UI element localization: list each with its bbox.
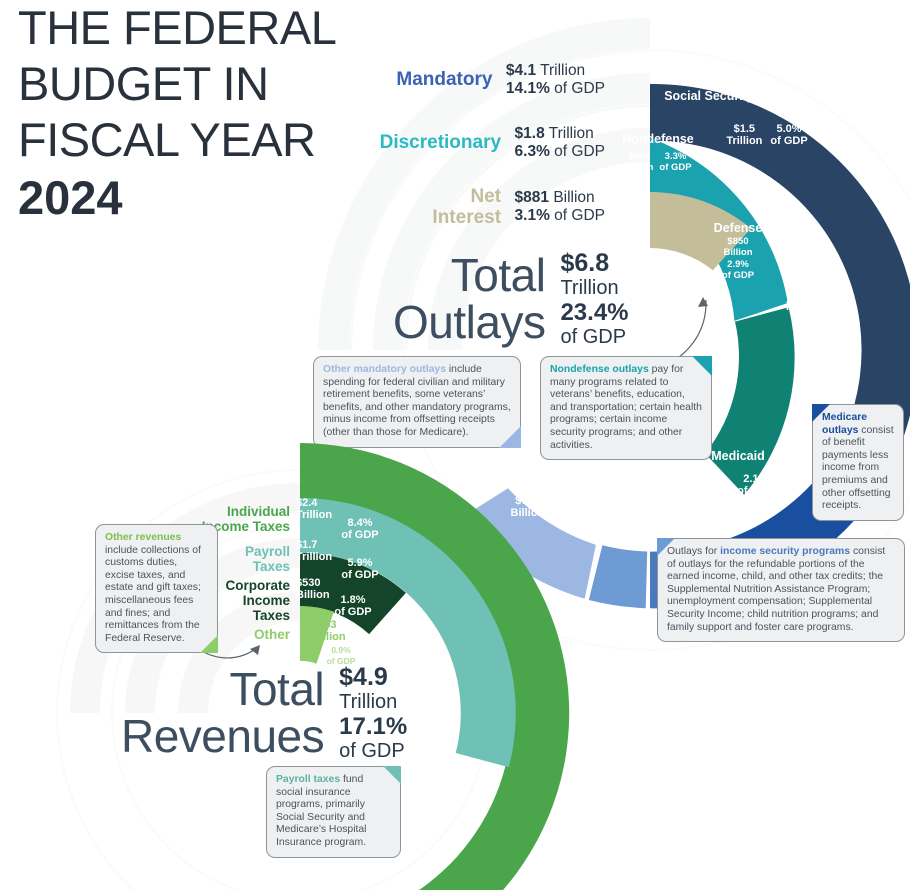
callout-payroll-body: fund social insurance programs, primaril…	[276, 774, 366, 848]
arc-values-other-revenues: $253 Billion	[312, 620, 370, 643]
revenues-center-numbers: $4.9 Trillion 17.1% of GDP	[339, 663, 407, 762]
revenues-center-pct: 17.1%	[339, 713, 407, 740]
revenues-center-total: Total Revenues $4.9 Trillion 17.1% of GD…	[120, 662, 408, 763]
rev-legend-individual-line1: Individual	[150, 504, 290, 519]
arc-amount-other-rev: $253	[312, 620, 370, 632]
revenues-center-amount: $4.9	[339, 663, 407, 691]
arc-unit-other-rev: Billion	[312, 632, 370, 644]
other-revenues-leader-arrow	[250, 645, 260, 655]
arc-pct-corporate: 1.8%	[325, 595, 381, 607]
arc-pct-block-corporate: 1.8% of GDP	[325, 595, 381, 618]
arc-pct-individual: 8.4%	[330, 518, 390, 530]
revenues-center-unit: Trillion	[339, 691, 407, 713]
revenues-center-word1: Total	[121, 666, 324, 713]
arc-pct-other-rev: 0.9%	[312, 645, 370, 656]
callout-other-revenues-body: include collections of customs duties, e…	[105, 545, 201, 644]
arc-pctunit-corporate: of GDP	[325, 607, 381, 619]
callout-other-revenues: Other revenues include collections of cu…	[95, 524, 218, 653]
infographic-canvas: THE FEDERAL BUDGET IN FISCAL YEAR 2024	[0, 0, 910, 890]
callout-other-revenues-highlight: Other revenues	[105, 532, 181, 543]
callout-other-revenues-pointer	[200, 635, 218, 653]
revenues-center-pctunit: of GDP	[339, 740, 407, 762]
callout-payroll-taxes: Payroll taxes fund social insurance prog…	[266, 766, 401, 858]
arc-amount-individual: $2.4	[296, 498, 356, 510]
arc-pct-payroll: 5.9%	[330, 558, 390, 570]
arc-amount-payroll: $1.7	[296, 540, 356, 552]
arc-amount-corporate: $530	[296, 578, 356, 590]
callout-payroll-pointer	[383, 766, 401, 784]
callout-payroll-highlight: Payroll taxes	[276, 774, 340, 785]
arc-pct-block-individual: 8.4% of GDP	[330, 518, 390, 541]
revenues-center-word2: Revenues	[121, 713, 324, 760]
